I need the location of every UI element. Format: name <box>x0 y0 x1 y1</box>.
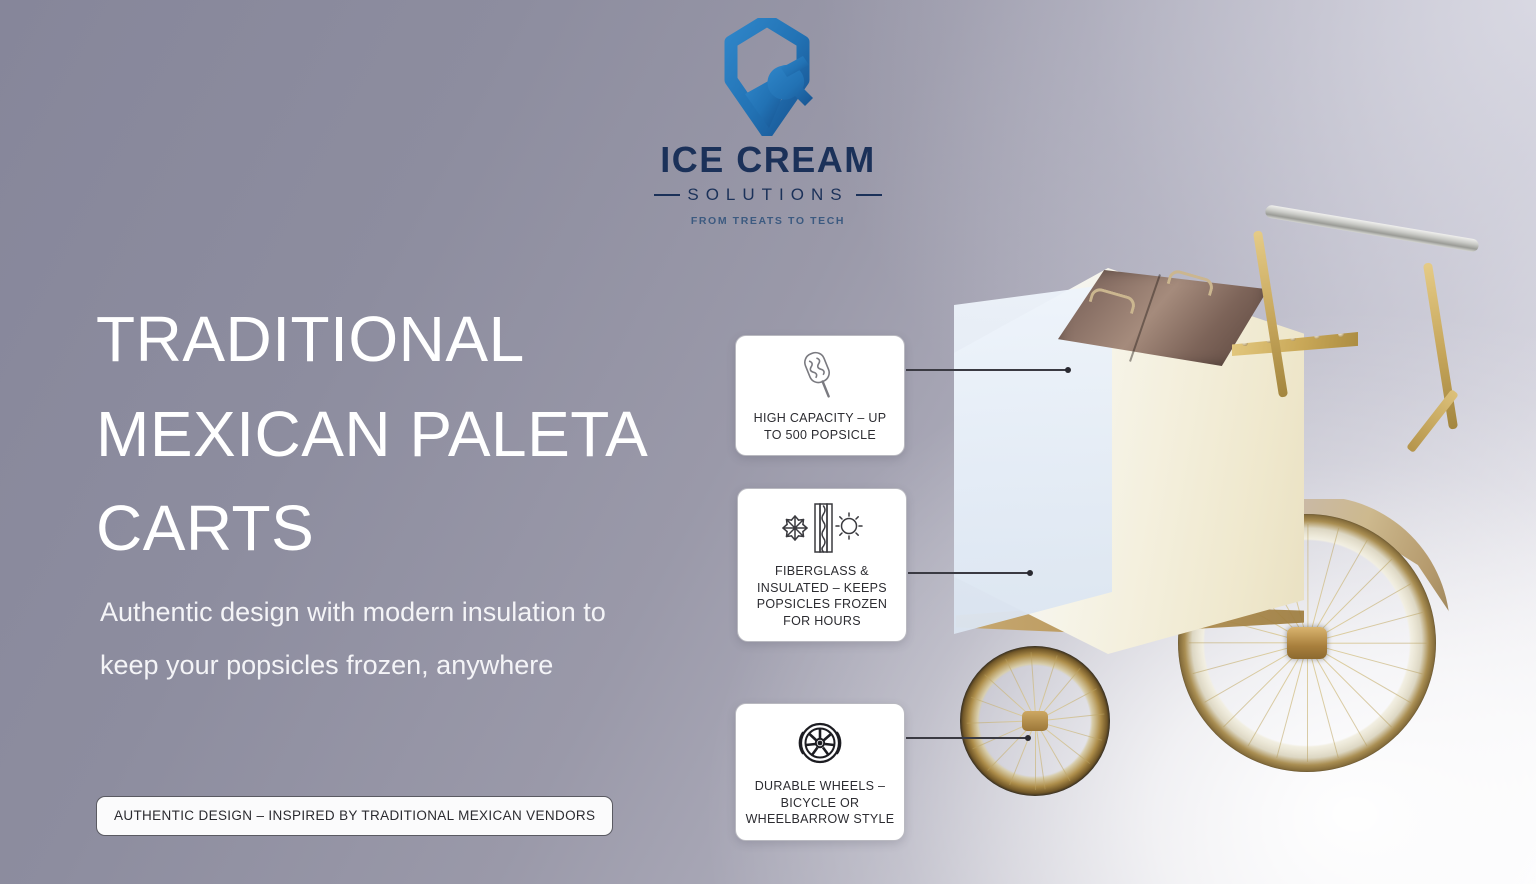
authenticity-badge: AUTHENTIC DESIGN – INSPIRED BY TRADITION… <box>96 796 613 836</box>
front-wheel-hub <box>1022 711 1048 731</box>
handle-grip-bar <box>1264 204 1479 252</box>
connector-line-2 <box>908 572 1030 574</box>
feature-label: DURABLE WHEELS – BICYCLE OR WHEELBARROW … <box>744 778 896 828</box>
rear-wheel-hub <box>1287 627 1327 659</box>
brand-solutions: SOLUTIONS <box>687 185 848 205</box>
front-wheel <box>960 646 1110 796</box>
rule-left <box>654 194 680 196</box>
connector-line-1 <box>906 369 1068 371</box>
handle-arm-left <box>1253 230 1288 397</box>
hero-slide: ICE CREAM SOLUTIONS FROM TREATS TO TECH … <box>0 0 1536 884</box>
wheel-icon <box>793 716 847 770</box>
popsicle-icon <box>797 348 843 402</box>
feature-card-insulation[interactable]: FIBERGLASS & INSULATED – KEEPS POPSICLES… <box>737 488 907 642</box>
feature-label: HIGH CAPACITY – UP TO 500 POPSICLE <box>744 410 896 443</box>
rule-right <box>856 194 882 196</box>
push-handle <box>1252 204 1502 414</box>
feature-card-capacity[interactable]: HIGH CAPACITY – UP TO 500 POPSICLE <box>735 335 905 456</box>
brand-solutions-row: SOLUTIONS <box>654 185 881 205</box>
hexagon-wrench-pin-icon <box>720 18 816 136</box>
product-image <box>930 196 1536 856</box>
feature-card-wheels[interactable]: DURABLE WHEELS – BICYCLE OR WHEELBARROW … <box>735 703 905 841</box>
connector-line-3 <box>906 737 1028 739</box>
brand-wordmark: ICE CREAM <box>660 142 876 178</box>
feature-label: FIBERGLASS & INSULATED – KEEPS POPSICLES… <box>746 563 898 629</box>
brand-tagline: FROM TREATS TO TECH <box>691 215 845 227</box>
page-title: TRADITIONAL MEXICAN PALETA CARTS <box>96 292 716 576</box>
snowflake-insulation-sun-icon <box>775 501 869 555</box>
hero-subhead: Authentic design with modern insulation … <box>100 586 640 693</box>
